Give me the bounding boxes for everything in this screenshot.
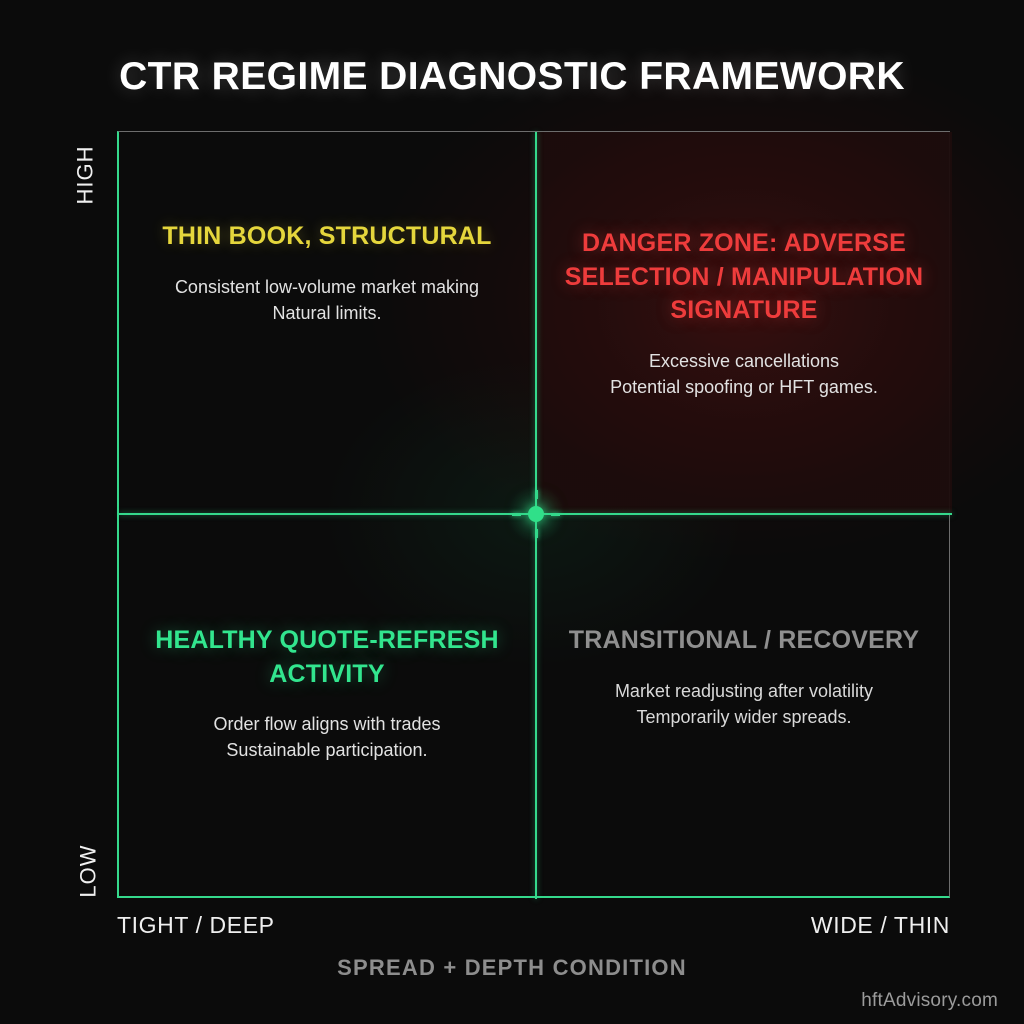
watermark: hftAdvisory.com	[861, 990, 998, 1012]
x-axis-title: SPREAD + DEPTH CONDITION	[0, 955, 1024, 981]
reticle-tick-west	[512, 513, 521, 516]
y-axis-high-label: HIGH	[73, 146, 99, 205]
plot-frame: THIN BOOK, STRUCTURAL Consistent low-vol…	[117, 131, 950, 898]
reticle-tick-south	[535, 529, 538, 538]
reticle-center-dot	[528, 506, 544, 522]
quadrant-bottom-right-line1: Market readjusting after volatility	[558, 678, 930, 704]
quadrant-top-right-line1: Excessive cancellations	[558, 348, 930, 374]
diagnostic-framework-canvas: CTR REGIME DIAGNOSTIC FRAMEWORK CANCEL-T…	[0, 0, 1024, 1024]
quadrant-bottom-right-line2: Temporarily wider spreads.	[558, 704, 930, 730]
quadrant-top-right: DANGER ZONE: ADVERSE SELECTION / MANIPUL…	[536, 227, 952, 400]
page-title: CTR REGIME DIAGNOSTIC FRAMEWORK	[0, 55, 1024, 99]
quadrant-bottom-right-heading: TRANSITIONAL / RECOVERY	[558, 624, 930, 658]
quadrant-top-left: THIN BOOK, STRUCTURAL Consistent low-vol…	[119, 220, 535, 326]
quadrant-bottom-right: TRANSITIONAL / RECOVERY Market readjusti…	[536, 624, 952, 730]
y-axis-title: CANCEL-TO-TRADE RATIO	[0, 337, 2, 687]
quadrant-bottom-left-line2: Sustainable participation.	[141, 737, 513, 763]
reticle-tick-east	[551, 513, 560, 516]
x-axis-right-label: WIDE / THIN	[811, 912, 950, 939]
quadrant-top-right-heading: DANGER ZONE: ADVERSE SELECTION / MANIPUL…	[558, 227, 930, 328]
reticle-tick-north	[535, 490, 538, 499]
x-axis-left-label: TIGHT / DEEP	[117, 912, 275, 939]
quadrant-top-left-line1: Consistent low-volume market making	[141, 274, 513, 300]
quadrant-bottom-left: HEALTHY QUOTE-REFRESH ACTIVITY Order flo…	[119, 624, 535, 763]
quadrant-bottom-left-line1: Order flow aligns with trades	[141, 711, 513, 737]
y-axis-low-label: LOW	[76, 844, 102, 897]
quadrant-bottom-left-heading: HEALTHY QUOTE-REFRESH ACTIVITY	[141, 624, 513, 691]
quadrant-top-right-line2: Potential spoofing or HFT games.	[558, 374, 930, 400]
quadrant-top-left-line2: Natural limits.	[141, 300, 513, 326]
quadrant-top-left-heading: THIN BOOK, STRUCTURAL	[141, 220, 513, 254]
